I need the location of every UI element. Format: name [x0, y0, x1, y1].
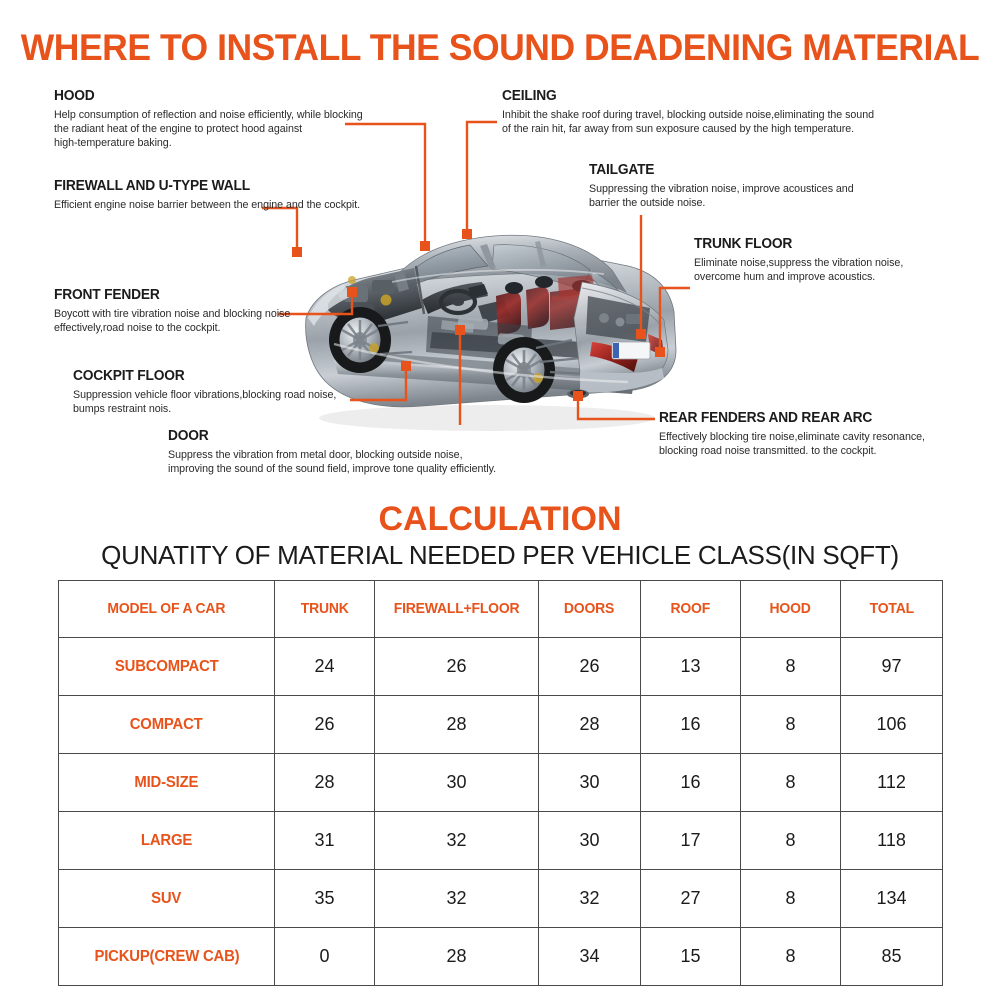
cell-doors: 32: [539, 870, 641, 928]
cell-roof: 16: [641, 696, 741, 754]
col-header-total: TOTAL: [841, 581, 943, 638]
cell-total: 106: [841, 696, 943, 754]
callout-tailgate: TAILGATE Suppressing the vibration noise…: [589, 162, 854, 210]
callout-ceiling-body: Inhibit the shake roof during travel, bl…: [502, 108, 874, 136]
cell-roof: 17: [641, 812, 741, 870]
callout-front-fender-title: FRONT FENDER: [54, 287, 278, 304]
callout-door: DOOR Suppress the vibration from metal d…: [168, 428, 496, 476]
table-header: MODEL OF A CAR TRUNK FIREWALL+FLOOR DOOR…: [59, 581, 943, 638]
callout-hood-body: Help consumption of reflection and noise…: [54, 108, 363, 150]
cell-model: MID-SIZE: [59, 754, 275, 812]
cell-trunk: 35: [275, 870, 375, 928]
callout-door-title: DOOR: [168, 428, 480, 445]
table-row: MID-SIZE 28 30 30 16 8 112: [59, 754, 943, 812]
table-body: SUBCOMPACT 24 26 26 13 8 97 COMPACT 26 2…: [59, 638, 943, 986]
col-header-firewall-floor: FIREWALL+FLOOR: [375, 581, 539, 638]
cell-doors: 26: [539, 638, 641, 696]
table-row: SUBCOMPACT 24 26 26 13 8 97: [59, 638, 943, 696]
callout-tailgate-body: Suppressing the vibration noise, improve…: [589, 182, 854, 210]
car-cutaway-illustration: [282, 222, 682, 442]
cell-firewall-floor: 30: [375, 754, 539, 812]
cell-roof: 27: [641, 870, 741, 928]
col-header-roof: ROOF: [641, 581, 741, 638]
callout-cockpit-floor-body: Suppression vehicle floor vibrations,blo…: [73, 388, 336, 416]
cell-model: COMPACT: [59, 696, 275, 754]
calculation-heading: CALCULATION: [0, 500, 1000, 539]
cell-doors: 30: [539, 812, 641, 870]
cell-hood: 8: [741, 638, 841, 696]
cell-roof: 16: [641, 754, 741, 812]
cell-firewall-floor: 32: [375, 812, 539, 870]
cell-trunk: 31: [275, 812, 375, 870]
cell-roof: 15: [641, 928, 741, 986]
col-header-hood: HOOD: [741, 581, 841, 638]
callout-rear-fenders-body: Effectively blocking tire noise,eliminat…: [659, 430, 925, 458]
cell-firewall-floor: 32: [375, 870, 539, 928]
col-header-model: MODEL OF A CAR: [59, 581, 275, 638]
col-header-doors: DOORS: [539, 581, 641, 638]
callout-ceiling: CEILING Inhibit the shake roof during tr…: [502, 88, 874, 136]
cell-total: 118: [841, 812, 943, 870]
table-row: LARGE 31 32 30 17 8 118: [59, 812, 943, 870]
page-title: WHERE TO INSTALL THE SOUND DEADENING MAT…: [20, 27, 980, 69]
cell-hood: 8: [741, 870, 841, 928]
callout-ceiling-title: CEILING: [502, 88, 855, 105]
callout-trunk-floor-body: Eliminate noise,suppress the vibration n…: [694, 256, 903, 284]
cell-model: LARGE: [59, 812, 275, 870]
table-row: SUV 35 32 32 27 8 134: [59, 870, 943, 928]
calculation-subheading: QUNATITY OF MATERIAL NEEDED PER VEHICLE …: [0, 540, 1000, 571]
callout-firewall: FIREWALL AND U-TYPE WALL Efficient engin…: [54, 178, 360, 212]
calculation-table-wrapper: MODEL OF A CAR TRUNK FIREWALL+FLOOR DOOR…: [58, 580, 942, 986]
cell-total: 112: [841, 754, 943, 812]
cell-hood: 8: [741, 754, 841, 812]
calculation-table: MODEL OF A CAR TRUNK FIREWALL+FLOOR DOOR…: [58, 580, 943, 986]
callout-door-body: Suppress the vibration from metal door, …: [168, 448, 496, 476]
cell-firewall-floor: 26: [375, 638, 539, 696]
callout-firewall-body: Efficient engine noise barrier between t…: [54, 198, 360, 212]
table-row: PICKUP(CREW CAB) 0 28 34 15 8 85: [59, 928, 943, 986]
cell-roof: 13: [641, 638, 741, 696]
callout-cockpit-floor: COCKPIT FLOOR Suppression vehicle floor …: [73, 368, 336, 416]
cell-model: SUBCOMPACT: [59, 638, 275, 696]
infographic-page: WHERE TO INSTALL THE SOUND DEADENING MAT…: [0, 0, 1000, 1000]
callout-trunk-floor-title: TRUNK FLOOR: [694, 236, 893, 253]
cell-model: SUV: [59, 870, 275, 928]
callout-cockpit-floor-title: COCKPIT FLOOR: [73, 368, 323, 385]
callout-trunk-floor: TRUNK FLOOR Eliminate noise,suppress the…: [694, 236, 903, 284]
cell-doors: 34: [539, 928, 641, 986]
callout-front-fender: FRONT FENDER Boycott with tire vibration…: [54, 287, 290, 335]
cell-hood: 8: [741, 928, 841, 986]
cell-total: 134: [841, 870, 943, 928]
cell-firewall-floor: 28: [375, 928, 539, 986]
table-header-row: MODEL OF A CAR TRUNK FIREWALL+FLOOR DOOR…: [59, 581, 943, 638]
callout-front-fender-body: Boycott with tire vibration noise and bl…: [54, 307, 290, 335]
callout-tailgate-title: TAILGATE: [589, 162, 840, 179]
callout-rear-fenders-title: REAR FENDERS AND REAR ARC: [659, 410, 912, 427]
cell-total: 97: [841, 638, 943, 696]
cell-hood: 8: [741, 696, 841, 754]
cell-total: 85: [841, 928, 943, 986]
callout-rear-fenders: REAR FENDERS AND REAR ARC Effectively bl…: [659, 410, 925, 458]
cell-doors: 28: [539, 696, 641, 754]
table-row: COMPACT 26 28 28 16 8 106: [59, 696, 943, 754]
cell-trunk: 24: [275, 638, 375, 696]
cell-firewall-floor: 28: [375, 696, 539, 754]
cell-hood: 8: [741, 812, 841, 870]
callout-hood: HOOD Help consumption of reflection and …: [54, 88, 363, 150]
callout-hood-title: HOOD: [54, 88, 347, 105]
col-header-trunk: TRUNK: [275, 581, 375, 638]
cell-doors: 30: [539, 754, 641, 812]
callout-firewall-title: FIREWALL AND U-TYPE WALL: [54, 178, 345, 195]
cell-trunk: 28: [275, 754, 375, 812]
cell-trunk: 26: [275, 696, 375, 754]
cell-trunk: 0: [275, 928, 375, 986]
cell-model: PICKUP(CREW CAB): [59, 928, 275, 986]
